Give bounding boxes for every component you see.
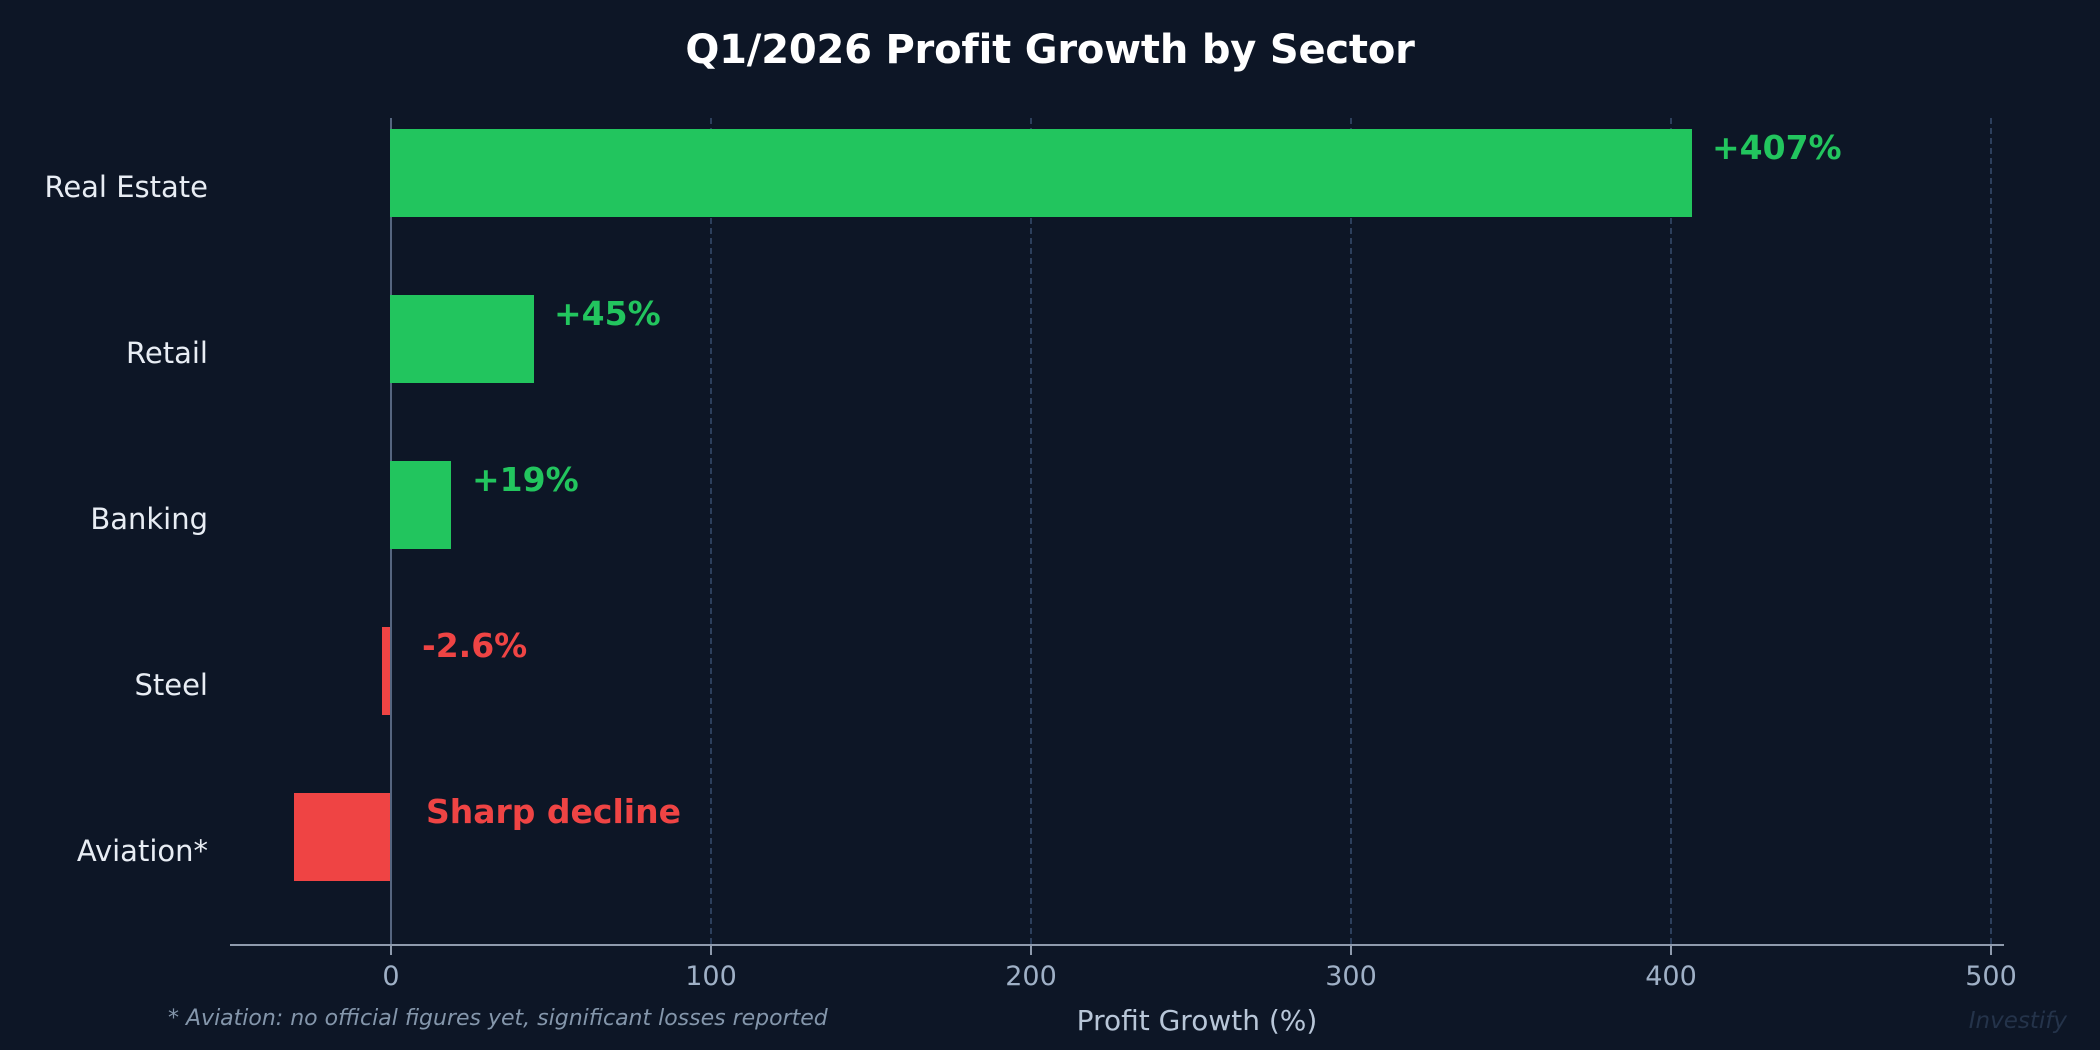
y-axis-labels: Real Estate Retail Banking Steel Aviatio… bbox=[0, 0, 208, 1050]
chart-footnote: * Aviation: no official figures yet, sig… bbox=[168, 1008, 828, 1030]
gridline-200 bbox=[1030, 118, 1032, 944]
chart-watermark: Investify bbox=[1969, 1010, 2067, 1033]
x-tick-label-0: 0 bbox=[311, 963, 471, 990]
bar-retail[interactable] bbox=[390, 295, 534, 383]
x-tick-label-200: 200 bbox=[951, 963, 1111, 990]
x-tick-mark-0 bbox=[390, 946, 392, 955]
x-tick-label-400: 400 bbox=[1591, 963, 1751, 990]
bar-aviation[interactable] bbox=[294, 793, 390, 881]
bar-steel[interactable] bbox=[382, 627, 390, 715]
bar-value-banking: +19% bbox=[472, 463, 579, 496]
x-tick-mark-200 bbox=[1030, 946, 1032, 955]
gridline-500 bbox=[1990, 118, 1992, 944]
y-axis-label-steel: Steel bbox=[0, 671, 208, 700]
x-axis-line bbox=[230, 944, 2004, 946]
bar-value-real-estate: +407% bbox=[1712, 131, 1842, 164]
chart-figure: Q1/2026 Profit Growth by Sector Real Est… bbox=[0, 0, 2100, 1050]
x-tick-label-500: 500 bbox=[1911, 963, 2071, 990]
y-axis-label-banking: Banking bbox=[0, 505, 208, 534]
y-axis-label-aviation: Aviation* bbox=[0, 837, 208, 866]
gridline-100 bbox=[710, 118, 712, 944]
x-tick-mark-300 bbox=[1350, 946, 1352, 955]
x-tick-label-300: 300 bbox=[1271, 963, 1431, 990]
y-axis-label-retail: Retail bbox=[0, 339, 208, 368]
x-tick-mark-400 bbox=[1670, 946, 1672, 955]
bar-value-aviation: Sharp decline bbox=[426, 795, 681, 828]
gridline-400 bbox=[1670, 118, 1672, 944]
bar-real-estate[interactable] bbox=[390, 129, 1692, 217]
x-tick-mark-500 bbox=[1990, 946, 1992, 955]
y-axis-label-real-estate: Real Estate bbox=[0, 173, 208, 202]
x-tick-mark-100 bbox=[710, 946, 712, 955]
bar-value-retail: +45% bbox=[554, 297, 661, 330]
bar-value-steel: -2.6% bbox=[422, 629, 527, 662]
chart-title: Q1/2026 Profit Growth by Sector bbox=[0, 27, 2100, 73]
bar-banking[interactable] bbox=[390, 461, 451, 549]
gridline-300 bbox=[1350, 118, 1352, 944]
x-tick-label-100: 100 bbox=[631, 963, 791, 990]
